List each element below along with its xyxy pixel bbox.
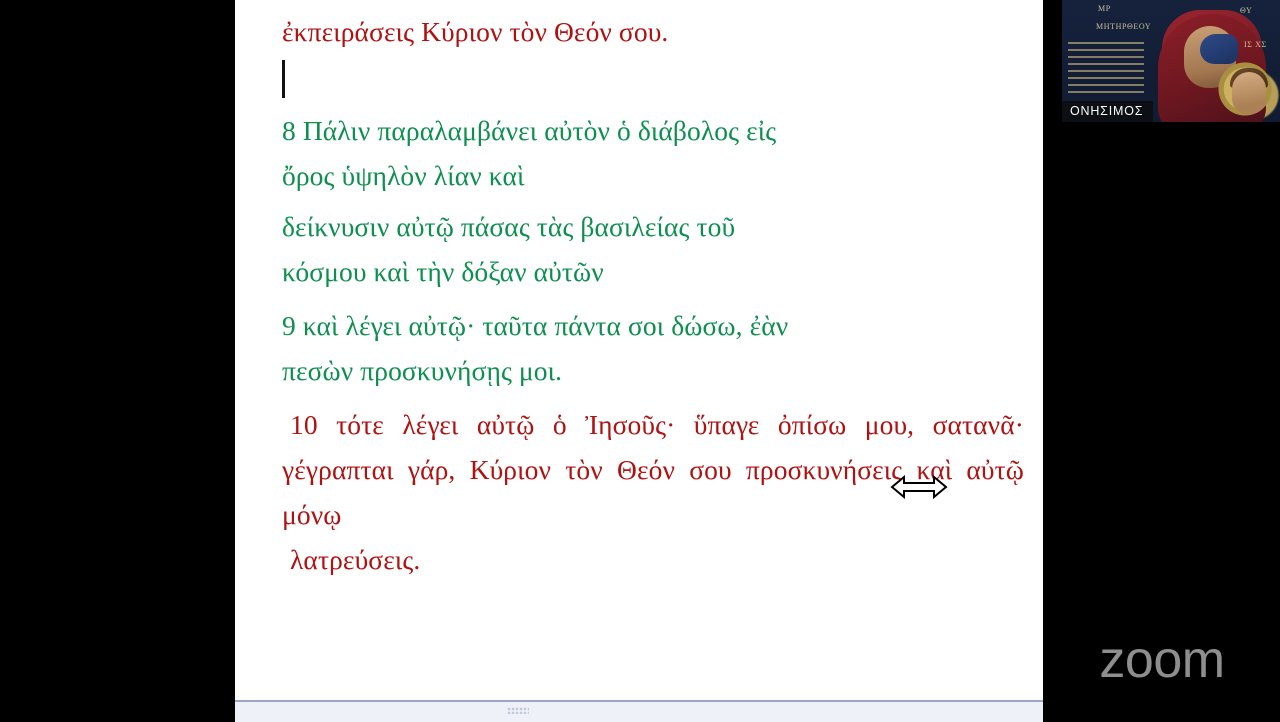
horizontal-resize-cursor — [890, 472, 948, 502]
document-bottom-toolbar[interactable] — [235, 700, 1043, 722]
verse-9-line-1: 9 καὶ λέγει αὐτῷ· ταῦτα πάντα σοι δώσω, … — [282, 310, 788, 341]
participant-video-thumbnail[interactable]: ΜΡ ΜΗΤΗΡΘΕΟΥ ΘΥ ΙΣ ΧΣ ΟΝΗΣΙΜΟΣ — [1062, 0, 1280, 122]
verse-8-line-2: ὄρος ὑψηλὸν λίαν καὶ — [282, 153, 1024, 198]
toolbar-grip-handle[interactable] — [507, 707, 529, 714]
text-caret — [282, 60, 285, 98]
paragraph-verse-9: 9 καὶ λέγει αὐτῷ· ταῦτα πάντα σοι δώσω, … — [282, 303, 1024, 393]
document-text-body[interactable]: ἐκπειράσεις Κύριον τὸν Θεόν σου. 8 Πάλιν… — [282, 0, 1024, 690]
icon-sigla-theotokos: ΜΗΤΗΡΘΕΟΥ — [1096, 22, 1151, 31]
resize-cursor-icon — [890, 472, 948, 502]
verse-10-line-1: 10 τότε λέγει αὐτῷ ὁ Ἰησοῦς· ὕπαγε ὀπίσω — [290, 409, 846, 440]
zoom-shared-screen: ἐκπειράσεις Κύριον τὸν Θεόν σου. 8 Πάλιν… — [0, 0, 1280, 720]
icon-sigla-thy: ΘΥ — [1240, 6, 1252, 15]
verse-8b-line-1: δείκνυσιν αὐτῷ πάσας τὰς βασιλείας τοῦ — [282, 211, 735, 242]
empty-line-with-caret[interactable] — [282, 54, 1024, 102]
zoom-logo-watermark: zoom — [1062, 632, 1262, 688]
participant-name-badge: ΟΝΗΣΙΜΟΣ — [1062, 101, 1153, 122]
child-face-shape — [1232, 72, 1266, 114]
verse-8-line-1: 8 Πάλιν παραλαμβάνει αὐτὸν ὁ διάβολος εἰ… — [282, 115, 776, 146]
verse-9-line-2: πεσὼν προσκυνήσῃς μοι. — [282, 348, 1024, 393]
shared-document-page[interactable]: ἐκπειράσεις Κύριον τὸν Θεόν σου. 8 Πάλιν… — [235, 0, 1043, 700]
icon-sigla-mr: ΜΡ — [1098, 4, 1111, 13]
verse-10-line-4: λατρεύσεις. — [282, 537, 1024, 582]
paragraph-verse-8: 8 Πάλιν παραλαμβάνει αὐτὸν ὁ διάβολος εἰ… — [282, 108, 1024, 198]
icon-inscription-panel — [1068, 42, 1144, 94]
paragraph-red-top: ἐκπειράσεις Κύριον τὸν Θεόν σου. — [282, 9, 1024, 54]
icon-sigla-is-xs: ΙΣ ΧΣ — [1244, 40, 1267, 49]
paragraph-verse-8b: δείκνυσιν αὐτῷ πάσας τὰς βασιλείας τοῦ κ… — [282, 204, 1024, 294]
verse-8b-line-2: κόσμου καὶ τὴν δόξαν αὐτῶν — [282, 249, 1024, 294]
